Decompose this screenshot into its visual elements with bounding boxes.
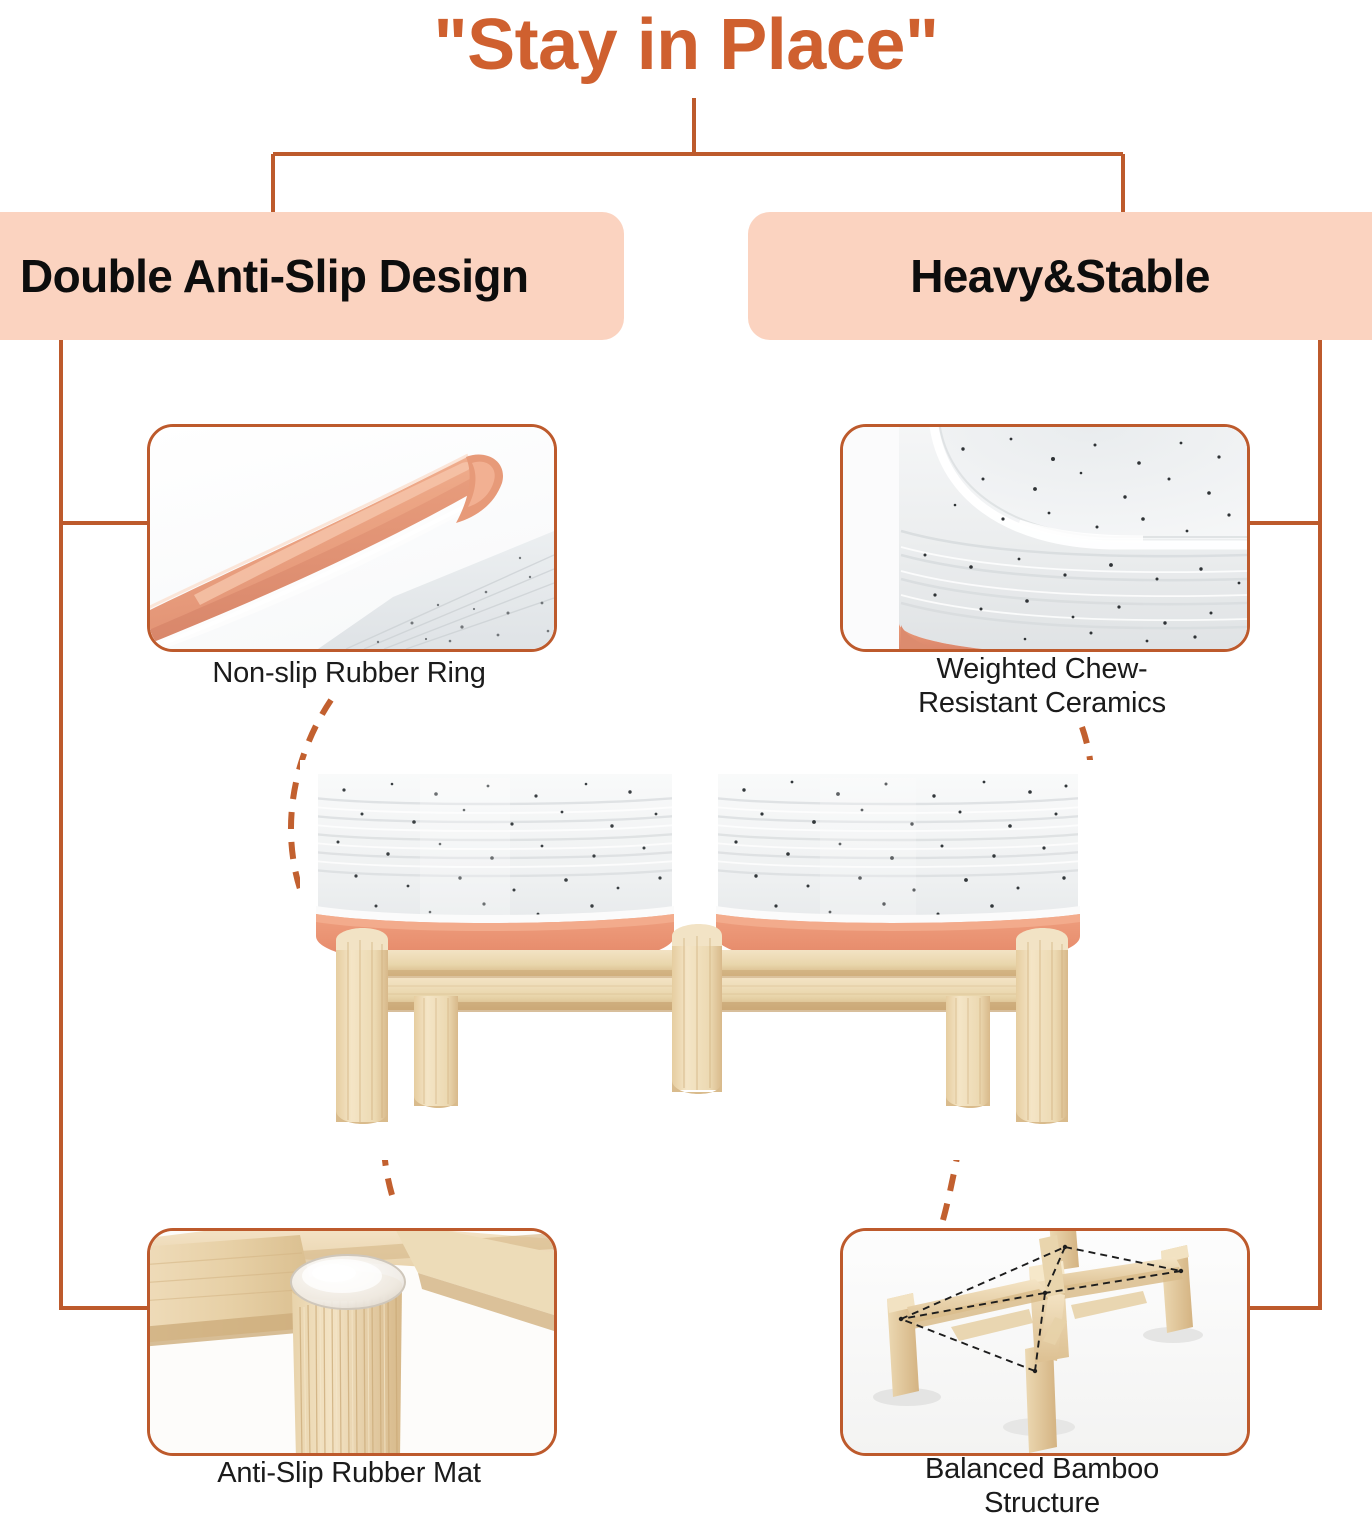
caption-line-1: Balanced Bamboo [840,1452,1244,1486]
caption-line-1: Weighted Chew- [830,652,1254,686]
page-title: "Stay in Place" [0,2,1372,88]
heading-label-right: Heavy&Stable [910,249,1210,303]
heading-box-heavy-and-stable: Heavy&Stable [748,212,1372,340]
photo-weighted-chew-resistant-ceramics [843,427,1247,649]
photo-balanced-bamboo-structure [843,1231,1247,1453]
photo-frame-balanced-bamboo-structure [840,1228,1250,1456]
photo-frame-weighted-ceramics [840,424,1250,652]
product-hero-image [300,760,1100,1160]
caption-line-2: Structure [840,1486,1244,1520]
caption-balanced-bamboo-structure: Balanced Bamboo Structure [840,1452,1244,1520]
product-illustration [300,760,1100,1160]
heading-box-double-anti-slip-design: Double Anti-Slip Design [0,212,624,340]
photo-frame-non-slip-rubber-ring [147,424,557,652]
photo-anti-slip-rubber-mat [150,1231,554,1453]
caption-line-2: Resistant Ceramics [830,686,1254,720]
caption-anti-slip-rubber-mat: Anti-Slip Rubber Mat [147,1456,551,1490]
caption-non-slip-rubber-ring: Non-slip Rubber Ring [147,656,551,690]
caption-weighted-ceramics: Weighted Chew- Resistant Ceramics [830,652,1254,720]
infographic-canvas: "Stay in Place" [0,0,1372,1500]
heading-label-left: Double Anti-Slip Design [20,249,528,303]
photo-non-slip-rubber-ring [150,427,554,649]
photo-frame-anti-slip-rubber-mat [147,1228,557,1456]
